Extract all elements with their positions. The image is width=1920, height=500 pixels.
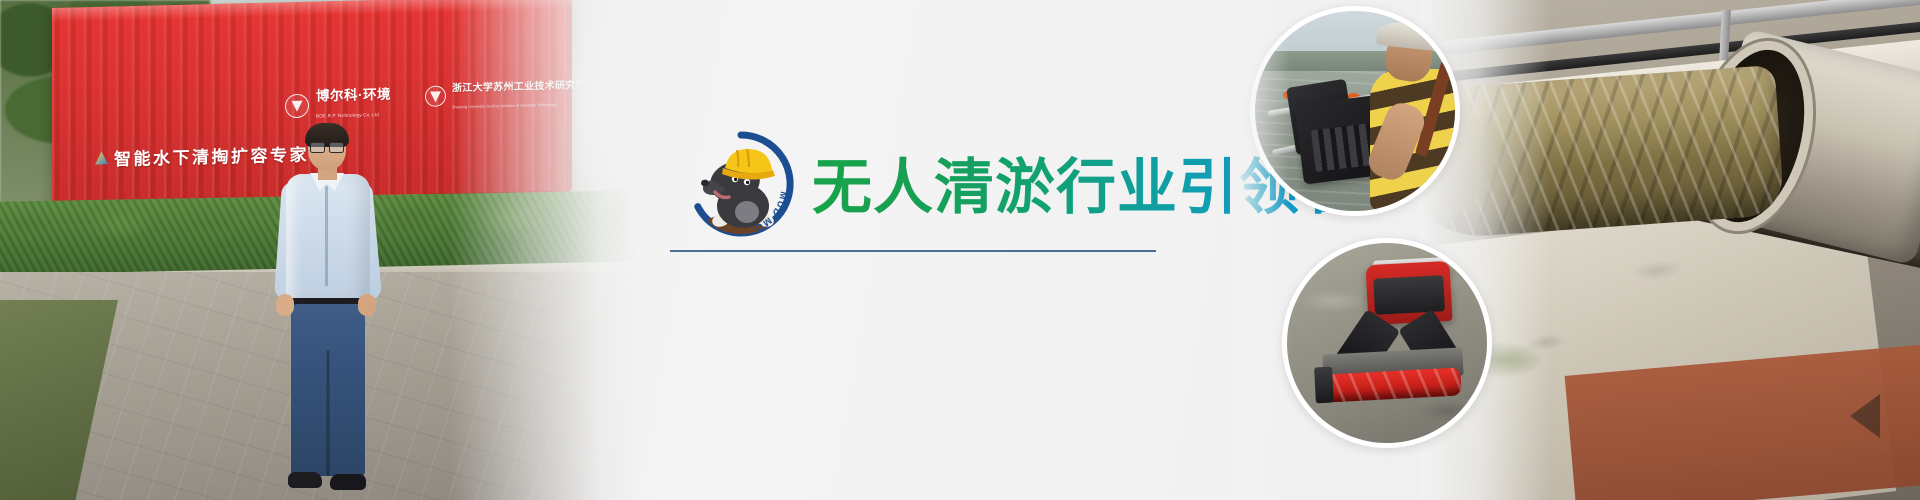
container-brand-en: BOE.R.P Technology Co.,Ltd [316, 112, 379, 119]
arrow-marker-icon [1850, 394, 1880, 438]
left-photo: 博尔科·环境 BOE.R.P Technology Co.,Ltd 浙江大学苏州… [0, 0, 640, 500]
engineer-pants [291, 304, 365, 476]
engineer-shoe-right [330, 474, 366, 490]
triangle-mark-icon [95, 151, 108, 164]
robot-auger-gearbox [1314, 367, 1334, 404]
circle-dredging-robot-photo [1282, 238, 1492, 448]
photo-engineer [272, 126, 382, 500]
engineer-hand-right [358, 294, 376, 316]
center-content: MUD MOLE 无人清淤行业引领者 [660, 0, 1280, 500]
engineer-shirt [286, 174, 370, 302]
partner-seal-icon [425, 86, 446, 108]
company-logo: MUD MOLE [685, 128, 797, 240]
robot-body [1365, 261, 1452, 325]
right-group-fade [1230, 0, 1290, 500]
engineer-hand-left [276, 294, 294, 316]
hero-banner: 博尔科·环境 BOE.R.P Technology Co.,Ltd 浙江大学苏州… [0, 0, 1920, 500]
pipe-discharge-photo [1420, 0, 1920, 500]
container-brand-primary: 博尔科·环境 BOE.R.P Technology Co.,Ltd [285, 87, 391, 123]
glasses-icon [310, 142, 344, 151]
engineer-placket [325, 186, 328, 286]
right-photo-group [1230, 0, 1920, 500]
container-brand-cn: 博尔科·环境 [316, 87, 391, 104]
left-photo-fade [450, 0, 640, 500]
operator-cap [1376, 20, 1439, 51]
operator-person [1347, 19, 1460, 211]
brand-seal-icon [285, 94, 309, 119]
headline-divider [670, 250, 1156, 252]
engineer-shoe-left [288, 472, 322, 488]
